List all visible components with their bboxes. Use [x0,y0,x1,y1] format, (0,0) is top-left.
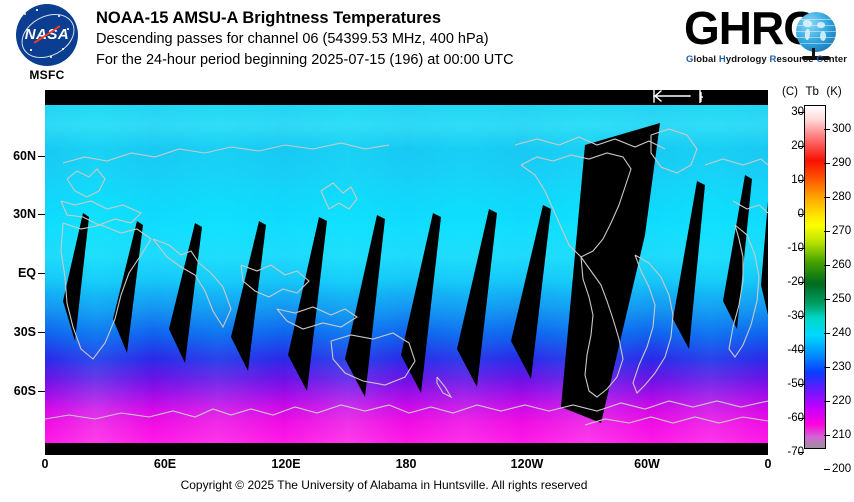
colorbar-gradient [804,105,826,449]
colorbar-quantity-label: Tb [801,86,823,98]
map-plot-area[interactable] [45,90,768,455]
colorbar-kelvin-tick: 210 [832,429,851,441]
x-tick-label: 120E [271,457,300,471]
colorbar-celsius-tick: 20 [791,140,804,152]
ghrc-tagline-lobal: lobal [694,54,719,65]
copyright-notice: Copyright © 2025 The University of Alaba… [0,478,768,492]
colorbar-kelvin-tick: 220 [832,395,851,407]
colorbar-kelvin-tick: 290 [832,157,851,169]
coastline [63,143,389,163]
colorbar-celsius-tick: 0 [798,208,804,220]
colorbar-celsius-tick: 30 [791,106,804,118]
x-tick-label: 60E [154,457,176,471]
coastline [61,223,151,359]
page-header: NASA MSFC NOAA-15 AMSU-A Brightness Temp… [0,0,854,90]
colorbar-celsius-tick: -40 [787,344,804,356]
ghrc-tagline-h: H [719,54,726,65]
colorbar-kelvin-tick: 280 [832,191,851,203]
colorbar-kelvin-tick: 300 [832,123,851,135]
y-tick-label: 60N [0,149,36,163]
ghrc-tagline-esource: esource [777,54,817,65]
colorbar-kelvin-tick: 240 [832,327,851,339]
coastline [651,129,697,173]
ghrc-tagline-enter: enter [823,54,847,65]
x-tick-label: 0 [42,457,49,471]
coastline [277,307,357,329]
ghrc-tagline-r: R [770,54,777,65]
coastline [45,401,768,419]
nasa-meatball-icon: NASA [16,4,78,66]
coastline [241,265,309,297]
coastline [153,239,231,327]
brightness-temperature-map[interactable] [45,105,768,443]
nasa-logo: NASA MSFC [8,4,86,86]
colorbar-celsius-tick: -10 [787,242,804,254]
coastline [331,333,415,385]
title-block: NOAA-15 AMSU-A Brightness Temperatures D… [96,8,676,71]
x-tick-label: 60W [634,457,660,471]
coastline [705,159,768,165]
coastline [581,257,623,397]
coastline [521,153,631,257]
colorbar-celsius-tick: -50 [787,378,804,390]
y-tick-label: 60S [0,384,36,398]
coastline-overlay [45,105,768,443]
nasa-center-label: MSFC [8,68,86,82]
coastline [437,377,451,397]
colorbar-celsius-tick: -70 [787,446,804,458]
colorbar-header: (C) Tb (K) [776,86,854,98]
colorbar-kelvin-tick: 250 [832,293,851,305]
coastline [67,169,105,197]
ghrc-tagline-g: G [686,54,694,65]
y-tick-label: 30N [0,207,36,221]
colorbar-kelvin-tick: 260 [832,259,851,271]
colorbar-kelvin-tick: 270 [832,225,851,237]
coastline [733,201,768,213]
y-tick-label: 30S [0,325,36,339]
ghrc-tagline-ydrology: ydrology [726,54,770,65]
x-tick-label: 120W [511,457,544,471]
colorbar: (C) Tb (K) 30 20 10 0 -10 -20 -30 -40 -5… [776,86,854,466]
ghrc-logo: GHRC Global Hydrology Resource Center [684,6,848,76]
page-title: NOAA-15 AMSU-A Brightness Temperatures [96,8,676,29]
x-tick-label: 180 [396,457,417,471]
ghrc-tagline: Global Hydrology Resource Center [686,54,848,65]
x-tick-label: 0 [765,457,772,471]
colorbar-unit-celsius: (C) [776,86,798,98]
scan-direction-arrow-icon [650,88,694,104]
coastline [729,225,759,357]
coastline [585,417,768,425]
page-subtitle-period: For the 24-hour period beginning 2025-07… [96,50,676,71]
colorbar-celsius-tick: -60 [787,412,804,424]
colorbar-celsius-tick: -30 [787,310,804,322]
colorbar-celsius-tick: 10 [791,174,804,186]
coastline [633,255,673,393]
colorbar-kelvin-tick: 230 [832,361,851,373]
y-tick-label: EQ [0,266,36,280]
colorbar-celsius-tick: -20 [787,276,804,288]
colorbar-kelvin-tick: 200 [832,463,851,475]
coastline [61,201,141,225]
colorbar-unit-kelvin: (K) [826,86,850,98]
coastline [321,183,357,209]
page-subtitle-channel: Descending passes for channel 06 (54399.… [96,29,676,50]
nasa-swoosh-icon [18,24,76,50]
coastline [515,137,665,149]
globe-icon [796,12,836,52]
